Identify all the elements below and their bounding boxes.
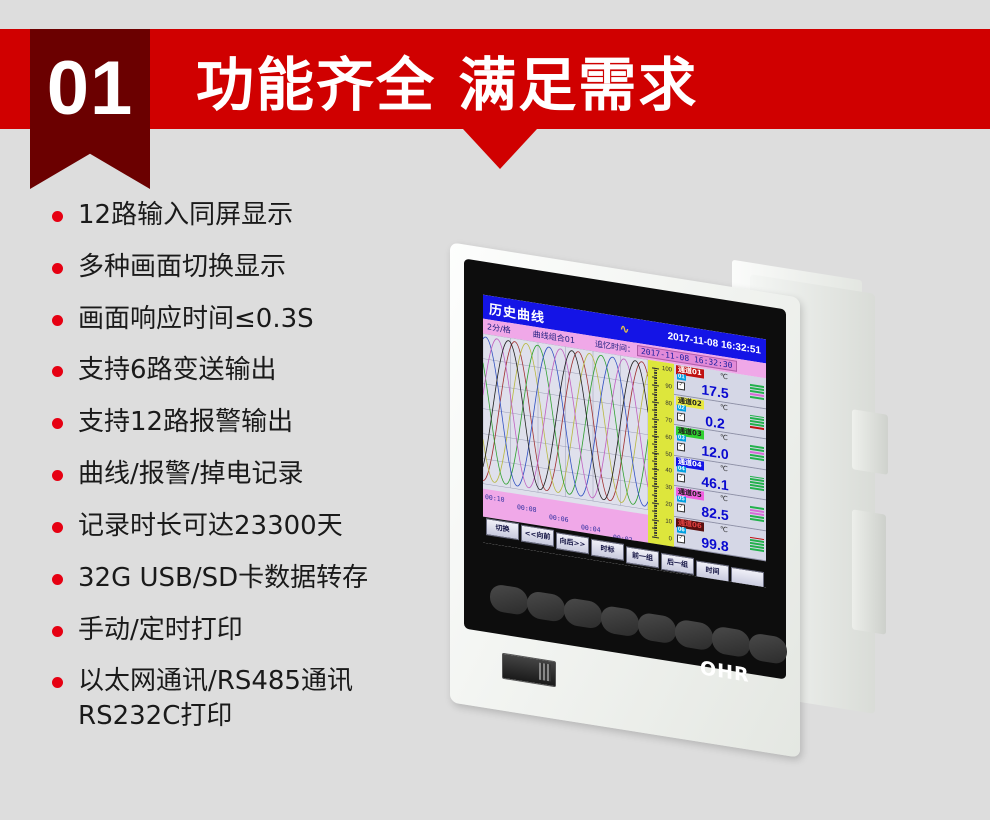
list-item: 支持6路变送输出 <box>52 353 472 388</box>
hardware-button-8[interactable] <box>749 633 787 666</box>
softkey-1[interactable]: 切换 <box>486 518 519 540</box>
feature-text: 12路输入同屏显示 <box>78 198 293 233</box>
y-tick: 30 <box>665 485 672 492</box>
y-tick: 90 <box>665 384 672 391</box>
x-tick: 00:08 <box>517 503 537 514</box>
channel-index: 06 <box>677 526 686 533</box>
list-item: 32G USB/SD卡数据转存 <box>52 561 472 596</box>
device-mount-wing-middle <box>852 409 888 475</box>
bullet-dot-icon <box>52 315 63 326</box>
y-tick: 60 <box>665 434 672 441</box>
feature-text: 支持12路报警输出 <box>78 405 293 440</box>
channel-bargraph <box>750 506 764 523</box>
hardware-button-3[interactable] <box>564 597 602 630</box>
channel-index: 02 <box>677 404 686 411</box>
softkey-5[interactable]: 前一组 <box>626 546 659 568</box>
feature-text: 记录时长可达23300天 <box>78 509 343 544</box>
waveform-logo-icon: ∿ <box>619 321 629 337</box>
channel-bargraph <box>750 536 764 553</box>
feature-text: 手动/定时打印 <box>78 613 243 648</box>
feature-text: 以太网通讯/RS485通讯 RS232C打印 <box>78 664 353 734</box>
usb-slot-icon <box>539 663 551 682</box>
channel-unit: ℃ <box>720 372 728 381</box>
softkey-3[interactable]: 向后>> <box>556 532 589 554</box>
bullet-dot-icon <box>52 366 63 377</box>
channel-checkbox[interactable]: ✓ <box>677 503 685 512</box>
channel-unit: ℃ <box>720 494 728 503</box>
channel-bargraph <box>750 475 764 492</box>
hardware-button-6[interactable] <box>675 618 713 651</box>
section-number: 01 <box>47 51 134 127</box>
list-item: 多种画面切换显示 <box>52 250 472 285</box>
hardware-button-2[interactable] <box>527 590 565 623</box>
hardware-button-1[interactable] <box>490 583 528 616</box>
time-scale-label: 2分/格 <box>487 321 511 336</box>
feature-text: 支持6路变送输出 <box>78 353 277 388</box>
x-tick: 00:10 <box>485 493 505 504</box>
feature-text: 多种画面切换显示 <box>78 250 286 285</box>
device-mount-wing-bottom <box>852 509 886 634</box>
channel-checkbox[interactable]: ✓ <box>677 412 685 421</box>
channel-unit: ℃ <box>720 403 728 412</box>
channel-index: 04 <box>677 465 686 472</box>
channel-list: 通道01 ℃ 01 ✓ 17.5 通道02 ℃ 02 ✓ 0.2 通道03 <box>674 364 766 562</box>
y-axis-scale: 0102030405060708090100 <box>648 360 674 547</box>
page-title: 功能齐全 满足需求 <box>196 38 698 122</box>
banner-arrow <box>463 129 537 169</box>
list-item: 以太网通讯/RS485通讯 RS232C打印 <box>52 664 472 734</box>
channel-bargraph <box>750 445 764 462</box>
feature-text: 32G USB/SD卡数据转存 <box>78 561 368 596</box>
list-item: 支持12路报警输出 <box>52 405 472 440</box>
channel-checkbox[interactable]: ✓ <box>677 381 685 390</box>
list-item: 画面响应时间≤0.3S <box>52 302 472 337</box>
y-tick: 70 <box>665 417 672 424</box>
y-tick: 100 <box>662 366 672 374</box>
feature-text: 曲线/报警/掉电记录 <box>78 457 304 492</box>
bullet-dot-icon <box>52 626 63 637</box>
list-item: 手动/定时打印 <box>52 613 472 648</box>
trend-plot[interactable]: 00:10 00:08 00:06 00:04 00:02 <box>483 334 648 543</box>
y-tick: 50 <box>665 451 672 458</box>
channel-index: 03 <box>677 434 686 441</box>
y-tick: 20 <box>665 501 672 508</box>
device-screen[interactable]: 历史曲线 ∿ 2017-11-08 16:32:51 2分/格 曲线组合01 追… <box>483 295 766 588</box>
hardware-button-7[interactable] <box>712 626 750 659</box>
bullet-dot-icon <box>52 574 63 585</box>
bullet-dot-icon <box>52 263 63 274</box>
channel-bargraph <box>750 384 764 401</box>
channel-bargraph <box>750 414 764 431</box>
feature-list: 12路输入同屏显示 多种画面切换显示 画面响应时间≤0.3S 支持6路变送输出 … <box>52 198 472 751</box>
channel-unit: ℃ <box>720 525 728 534</box>
channel-unit: ℃ <box>720 433 728 442</box>
channel-checkbox[interactable]: ✓ <box>677 442 685 451</box>
bullet-dot-icon <box>52 418 63 429</box>
section-number-ribbon: 01 <box>30 29 150 189</box>
softkey-2[interactable]: <<向前 <box>521 525 554 547</box>
list-item: 曲线/报警/掉电记录 <box>52 457 472 492</box>
feature-text: 画面响应时间≤0.3S <box>78 302 314 337</box>
y-tick: 80 <box>665 400 672 407</box>
bullet-dot-icon <box>52 211 63 222</box>
channel-index: 01 <box>677 373 686 380</box>
paperless-recorder-device: 历史曲线 ∿ 2017-11-08 16:32:51 2分/格 曲线组合01 追… <box>432 262 972 762</box>
list-item: 记录时长可达23300天 <box>52 509 472 544</box>
bullet-dot-icon <box>52 522 63 533</box>
channel-checkbox[interactable]: ✓ <box>677 473 685 482</box>
hardware-button-4[interactable] <box>601 604 639 637</box>
bullet-dot-icon <box>52 470 63 481</box>
list-item: 12路输入同屏显示 <box>52 198 472 233</box>
y-tick: 0 <box>669 536 672 543</box>
y-tick: 40 <box>665 468 672 475</box>
channel-checkbox[interactable]: ✓ <box>677 534 685 543</box>
channel-unit: ℃ <box>720 464 728 473</box>
softkey-4[interactable]: 时标 <box>591 539 624 561</box>
channel-index: 05 <box>677 495 686 502</box>
bullet-dot-icon <box>52 677 63 688</box>
hardware-button-5[interactable] <box>638 611 676 644</box>
y-tick: 10 <box>665 518 672 525</box>
x-tick: 00:06 <box>549 513 569 524</box>
